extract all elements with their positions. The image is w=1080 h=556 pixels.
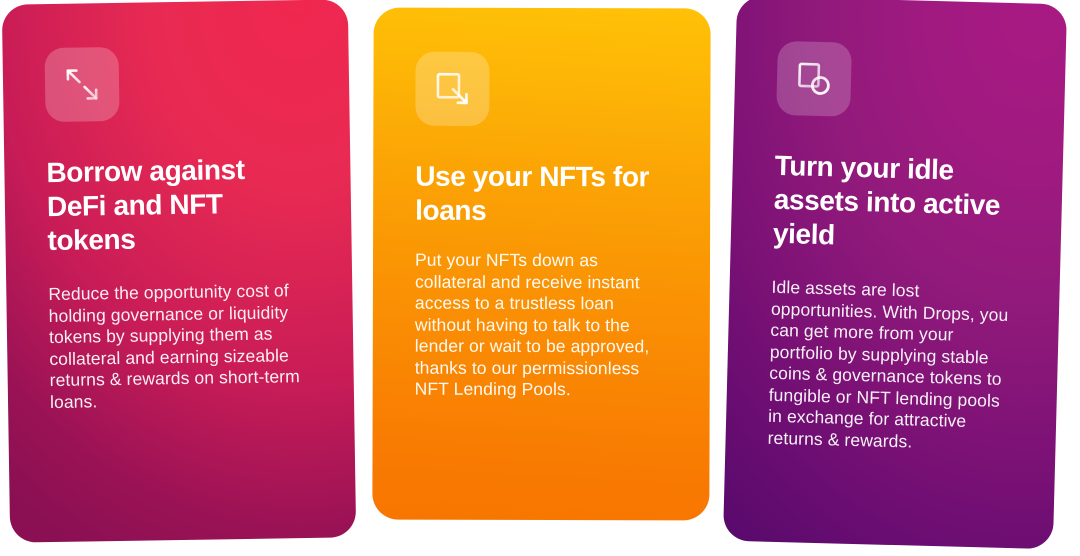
feature-card-use-your-nfts-for-loans[interactable]: Use your NFTs for loans Put your NFTs do… [372, 8, 710, 521]
card-title: Turn your idle assets into active yield [773, 149, 1022, 257]
card-body: Idle assets are lost opportunities. With… [767, 277, 1017, 455]
card-body: Put your NFTs down as collateral and rec… [415, 250, 668, 401]
feature-card-row: Borrow against DeFi and NFT tokens Reduc… [0, 0, 1080, 556]
document-arrow-out-icon [415, 52, 489, 126]
document-circle-icon [776, 41, 852, 117]
card-title: Borrow against DeFi and NFT tokens [46, 152, 310, 258]
card-body: Reduce the opportunity cost of holding g… [48, 280, 312, 413]
card-title: Use your NFTs for loans [415, 160, 668, 229]
feature-card-turn-your-idle-assets-into-active-yield[interactable]: Turn your idle assets into active yield … [723, 0, 1067, 549]
compress-arrows-icon [44, 47, 119, 122]
feature-card-borrow-against-defi-and-nft-tokens[interactable]: Borrow against DeFi and NFT tokens Reduc… [2, 0, 356, 543]
